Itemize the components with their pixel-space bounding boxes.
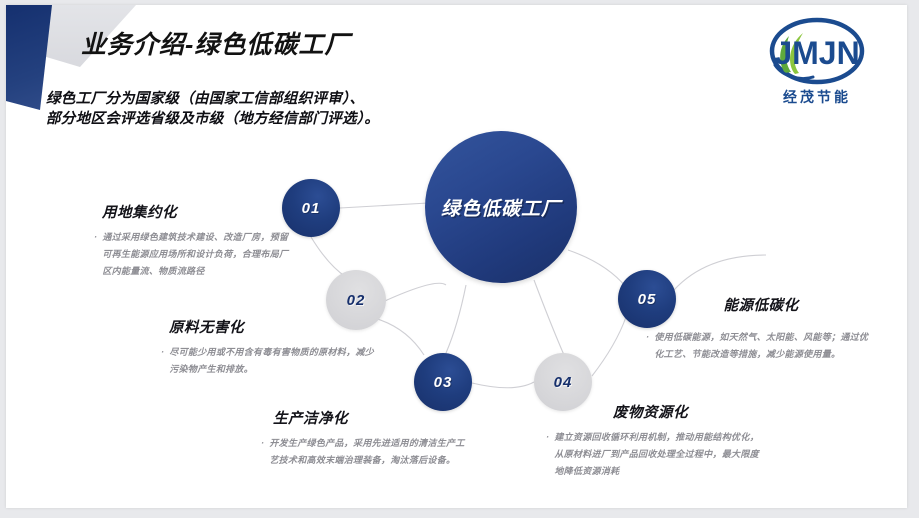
feature-bullet-4: · 建立资源回收循环利用机制，推动用能结构优化，从原材料进厂到产品回收处理全过程… [546, 429, 761, 480]
feature-heading-3: 生产洁净化 [273, 407, 471, 428]
bullet-dot-icon: · [161, 344, 164, 378]
feature-body-3: 开发生产绿色产品，采用先进适用的清洁生产工艺技术和高效末端治理装备，淘汰落后设备… [269, 435, 471, 469]
slide-canvas: 业务介绍-绿色低碳工厂 绿色工厂分为国家级（由国家工信部组织评审）、 部分地区会… [6, 5, 907, 508]
feature-block-3: 生产洁净化 · 开发生产绿色产品，采用先进适用的清洁生产工艺技术和高效末端治理装… [261, 407, 471, 469]
feature-body-2: 尽可能少用或不用含有毒有害物质的原材料，减少污染物产生和排放。 [169, 344, 376, 378]
page-title: 业务介绍-绿色低碳工厂 [81, 25, 350, 61]
feature-heading-1: 用地集约化 [102, 201, 294, 222]
feature-bullet-1: · 通过采用绿色建筑技术建设、改造厂房，预留可再生能源应用场所和设计负荷，合理布… [94, 229, 294, 280]
hub-label: 绿色低碳工厂 [441, 194, 561, 221]
logo-mark-text: JMJN [774, 35, 859, 71]
node-number-01: 01 [302, 200, 321, 217]
hub-circle: 绿色低碳工厂 [425, 131, 577, 283]
feature-bullet-2: · 尽可能少用或不用含有毒有害物质的原材料，减少污染物产生和排放。 [161, 344, 376, 378]
feature-body-1: 通过采用绿色建筑技术建设、改造厂房，预留可再生能源应用场所和设计负荷，合理布局厂… [102, 229, 294, 280]
node-circle-03[interactable]: 03 [414, 353, 472, 411]
logo-caption: 经茂节能 [751, 87, 883, 107]
feature-body-5: 使用低碳能源，如天然气、太阳能、风能等；通过优化工艺、节能改造等措施，减少能源使… [654, 329, 876, 363]
bullet-dot-icon: · [546, 429, 549, 480]
bullet-dot-icon: · [646, 329, 649, 363]
feature-block-1: 用地集约化 · 通过采用绿色建筑技术建设、改造厂房，预留可再生能源应用场所和设计… [94, 201, 294, 280]
subtitle-line-1: 绿色工厂分为国家级（由国家工信部组织评审）、 [46, 89, 379, 109]
page-subtitle: 绿色工厂分为国家级（由国家工信部组织评审）、 部分地区会评选省级及市级（地方经信… [46, 89, 379, 129]
bullet-dot-icon: · [261, 435, 264, 469]
feature-block-2: 原料无害化 · 尽可能少用或不用含有毒有害物质的原材料，减少污染物产生和排放。 [161, 316, 376, 378]
feature-heading-4: 废物资源化 [546, 401, 755, 422]
feature-bullet-3: · 开发生产绿色产品，采用先进适用的清洁生产工艺技术和高效末端治理装备，淘汰落后… [261, 435, 471, 469]
logo-mark-icon: JMJN [751, 15, 883, 93]
feature-heading-2: 原料无害化 [169, 316, 376, 337]
node-number-04: 04 [554, 374, 573, 391]
bullet-dot-icon: · [94, 229, 97, 280]
node-number-02: 02 [347, 292, 366, 309]
node-number-03: 03 [434, 374, 453, 391]
company-logo: JMJN 经茂节能 [751, 15, 883, 115]
feature-block-5: 能源低碳化 · 使用低碳能源，如天然气、太阳能、风能等；通过优化工艺、节能改造等… [646, 318, 876, 363]
slide-root: 业务介绍-绿色低碳工厂 绿色工厂分为国家级（由国家工信部组织评审）、 部分地区会… [0, 0, 919, 518]
feature-block-4: 废物资源化 · 建立资源回收循环利用机制，推动用能结构优化，从原材料进厂到产品回… [546, 401, 761, 480]
feature-heading-5: 能源低碳化 [646, 294, 876, 315]
subtitle-line-2: 部分地区会评选省级及市级（地方经信部门评选）。 [46, 109, 379, 129]
feature-body-4: 建立资源回收循环利用机制，推动用能结构优化，从原材料进厂到产品回收处理全过程中，… [554, 429, 761, 480]
feature-bullet-5: · 使用低碳能源，如天然气、太阳能、风能等；通过优化工艺、节能改造等措施，减少能… [646, 329, 876, 363]
